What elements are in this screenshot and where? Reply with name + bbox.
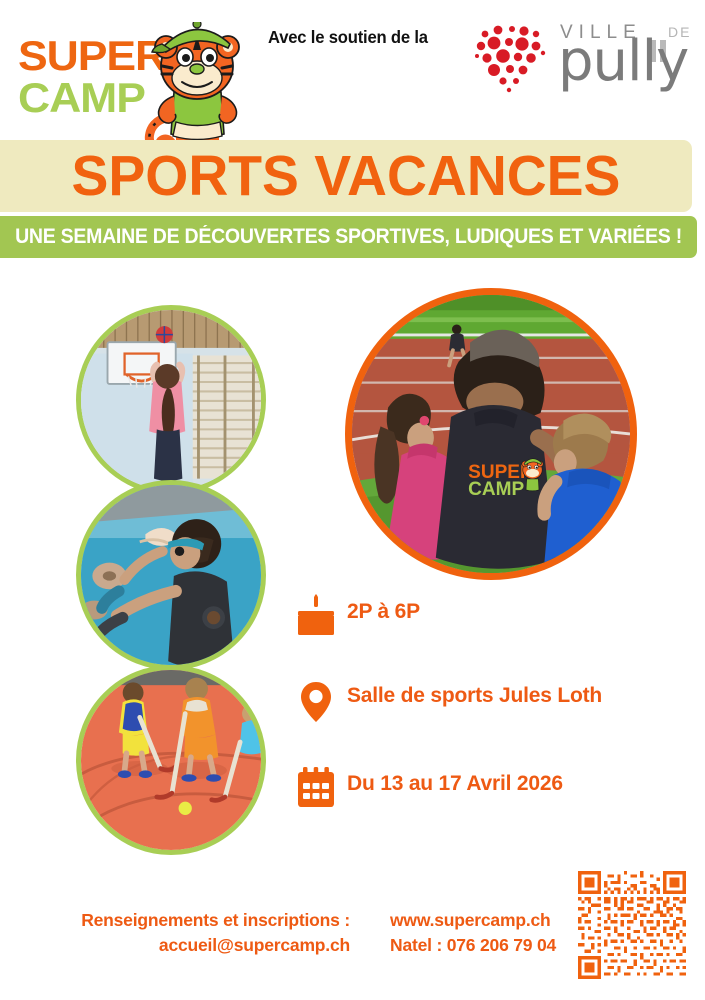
contact-line-1: Renseignements et inscriptions : xyxy=(50,908,350,933)
title-band: SPORTS VACANCES xyxy=(0,140,692,212)
phone-number: Natel : 076 206 79 04 xyxy=(390,933,570,958)
svg-text:CAMP: CAMP xyxy=(468,479,524,500)
supercamp-logo: SUPER CAMP xyxy=(18,30,248,140)
photo-main-group: SUPER CAMP xyxy=(345,288,637,580)
info-label-age: 2P à 6P xyxy=(347,600,420,624)
pully-name-label: pully xyxy=(558,34,688,90)
grape-cluster-icon xyxy=(472,20,552,94)
photo-hockey xyxy=(76,665,266,855)
info-row-age: 2P à 6P xyxy=(295,592,695,678)
cake-icon xyxy=(295,594,337,638)
info-row-date: Du 13 au 17 Avril 2026 xyxy=(295,764,695,850)
page-subtitle: UNE SEMAINE DE DÉCOUVERTES SPORTIVES, LU… xyxy=(24,216,672,258)
calendar-icon xyxy=(295,766,337,810)
poster: SUPER CAMP xyxy=(0,0,705,1000)
info-list: 2P à 6P Salle de sports Jules Loth xyxy=(295,592,695,850)
qr-code-icon[interactable] xyxy=(578,871,686,979)
photo-basketball xyxy=(76,305,266,495)
ville-de-pully-logo: VILLE DE pully xyxy=(472,18,688,98)
supercamp-wordmark: SUPER CAMP xyxy=(18,36,158,120)
web-block: www.supercamp.ch Natel : 076 206 79 04 xyxy=(390,908,570,958)
info-row-location: Salle de sports Jules Loth xyxy=(295,678,695,764)
location-pin-icon xyxy=(295,680,337,724)
support-text: Avec le soutien de la xyxy=(268,27,428,48)
subtitle-band: UNE SEMAINE DE DÉCOUVERTES SPORTIVES, LU… xyxy=(0,216,697,258)
photo-climbing xyxy=(76,480,266,670)
info-label-date: Du 13 au 17 Avril 2026 xyxy=(347,772,563,796)
page-title: SPORTS VACANCES xyxy=(10,140,681,212)
poster-header: SUPER CAMP xyxy=(0,0,705,140)
contact-email[interactable]: accueil@supercamp.ch xyxy=(50,933,350,958)
contact-block: Renseignements et inscriptions : accueil… xyxy=(50,908,350,958)
info-label-location: Salle de sports Jules Loth xyxy=(347,684,602,708)
website-link[interactable]: www.supercamp.ch xyxy=(390,908,570,933)
